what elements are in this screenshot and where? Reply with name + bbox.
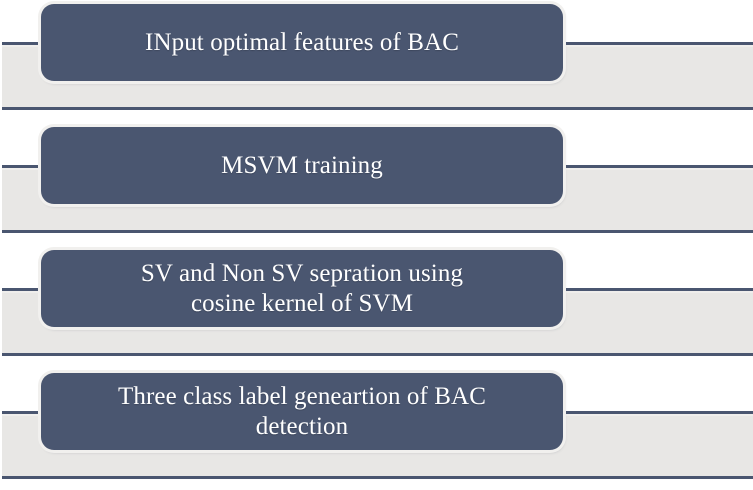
process-stage-4: Three class label geneartion of BAC dete… bbox=[0, 369, 753, 482]
process-stage-2: MSVM training bbox=[0, 123, 753, 236]
stage-label-4: Three class label geneartion of BAC dete… bbox=[102, 382, 502, 441]
process-stage-3: SV and Non SV sepration using cosine ker… bbox=[0, 246, 753, 359]
stage-label-3: SV and Non SV sepration using cosine ker… bbox=[125, 259, 479, 318]
process-stage-1: INput optimal features of BAC bbox=[0, 0, 753, 113]
stage-box-1[interactable]: INput optimal features of BAC bbox=[41, 4, 563, 81]
stage-box-3[interactable]: SV and Non SV sepration using cosine ker… bbox=[41, 250, 563, 327]
stage-label-2: MSVM training bbox=[205, 151, 399, 181]
stage-box-2[interactable]: MSVM training bbox=[41, 127, 563, 204]
stage-box-4[interactable]: Three class label geneartion of BAC dete… bbox=[41, 373, 563, 450]
process-flow-diagram: INput optimal features of BAC MSVM train… bbox=[0, 0, 753, 490]
stage-label-1: INput optimal features of BAC bbox=[129, 28, 475, 58]
